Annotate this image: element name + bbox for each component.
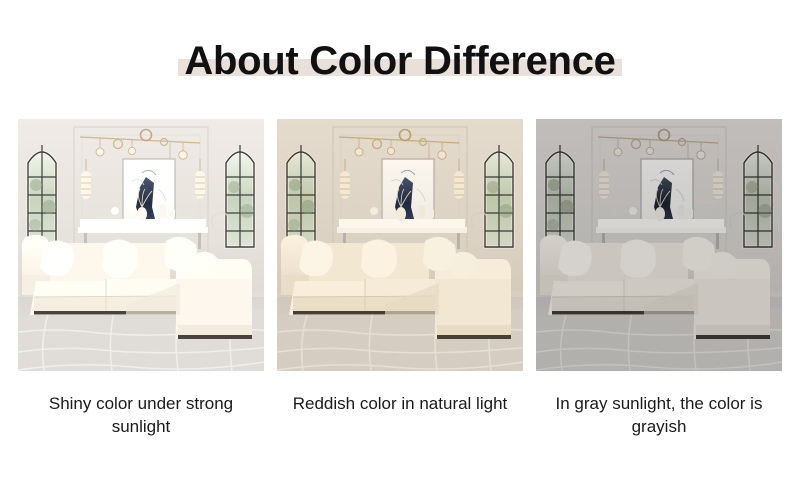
panel-row [18,119,782,371]
window-right-2 [485,145,513,247]
caption-shiny-sunlight: Shiny color under strong sunlight [18,393,264,453]
window-right-3 [744,145,772,247]
window-left-2 [287,145,315,247]
living-room-scene-2 [277,119,523,371]
page-title-text: About Color Difference [184,39,615,83]
caption-natural-light: Reddish color in natural light [277,393,523,453]
title-inner: About Color Difference [178,41,621,81]
window-left-1 [28,145,56,247]
image-panel-gray-sunlight[interactable] [536,119,782,371]
living-room-scene-3 [536,119,782,371]
living-room-scene-1 [18,119,264,371]
caption-row: Shiny color under strong sunlight Reddis… [18,393,782,453]
page-title: About Color Difference [0,32,800,90]
caption-gray-sunlight: In gray sunlight, the color is grayish [536,393,782,453]
window-left-3 [546,145,574,247]
color-difference-infographic: About Color Difference [0,0,800,494]
image-panel-shiny-sunlight[interactable] [18,119,264,371]
window-right-1 [226,145,254,247]
image-panel-natural-light[interactable] [277,119,523,371]
